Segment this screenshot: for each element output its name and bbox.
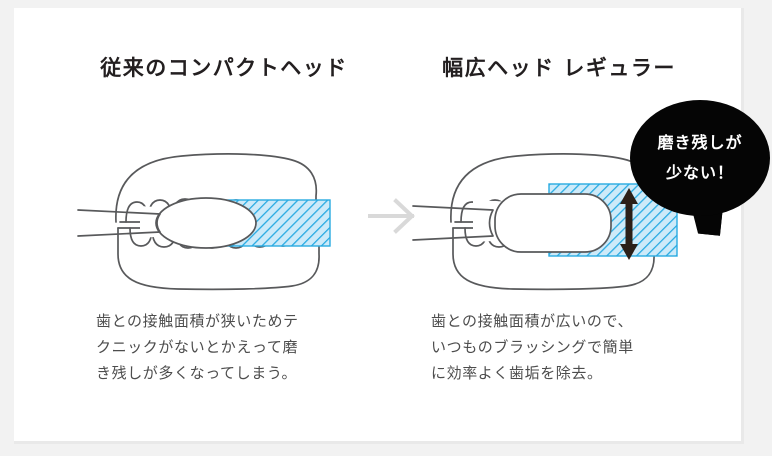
infographic-canvas: 従来のコンパクトヘッド (0, 0, 772, 456)
toothbrush-compact (78, 198, 256, 248)
panel-compact-head: 従来のコンパクトヘッド (74, 8, 374, 444)
bubble-line: 磨き残しが (630, 128, 770, 158)
panel-body-compact: 歯との接触面積が狭いためテ クニックがないとかえって磨 き残しが多くなってしまう… (96, 308, 358, 386)
body-line: 歯との接触面積が狭いためテ (96, 308, 358, 334)
body-line: 歯との接触面積が広いので、 (431, 308, 693, 334)
body-line: に効率よく歯垢を除去。 (431, 360, 693, 386)
body-line: いつものブラッシングで簡単 (431, 334, 693, 360)
bubble-line: 少ない！ (630, 158, 770, 188)
body-line: クニックがないとかえって磨 (96, 334, 358, 360)
panel-heading-wide: 幅広ヘッド レギュラー (409, 52, 709, 82)
panel-body-wide: 歯との接触面積が広いので、 いつものブラッシングで簡単 に効率よく歯垢を除去。 (431, 308, 693, 386)
content-card: 従来のコンパクトヘッド (14, 8, 744, 444)
speech-bubble-text: 磨き残しが 少ない！ (630, 128, 770, 188)
speech-bubble-icon: 磨き残しが 少ない！ (630, 100, 770, 232)
panel-heading-compact: 従来のコンパクトヘッド (74, 52, 374, 82)
body-line: き残しが多くなってしまう。 (96, 360, 358, 386)
toothbrush-wide (413, 194, 611, 252)
illustration-compact-brush (74, 136, 374, 296)
